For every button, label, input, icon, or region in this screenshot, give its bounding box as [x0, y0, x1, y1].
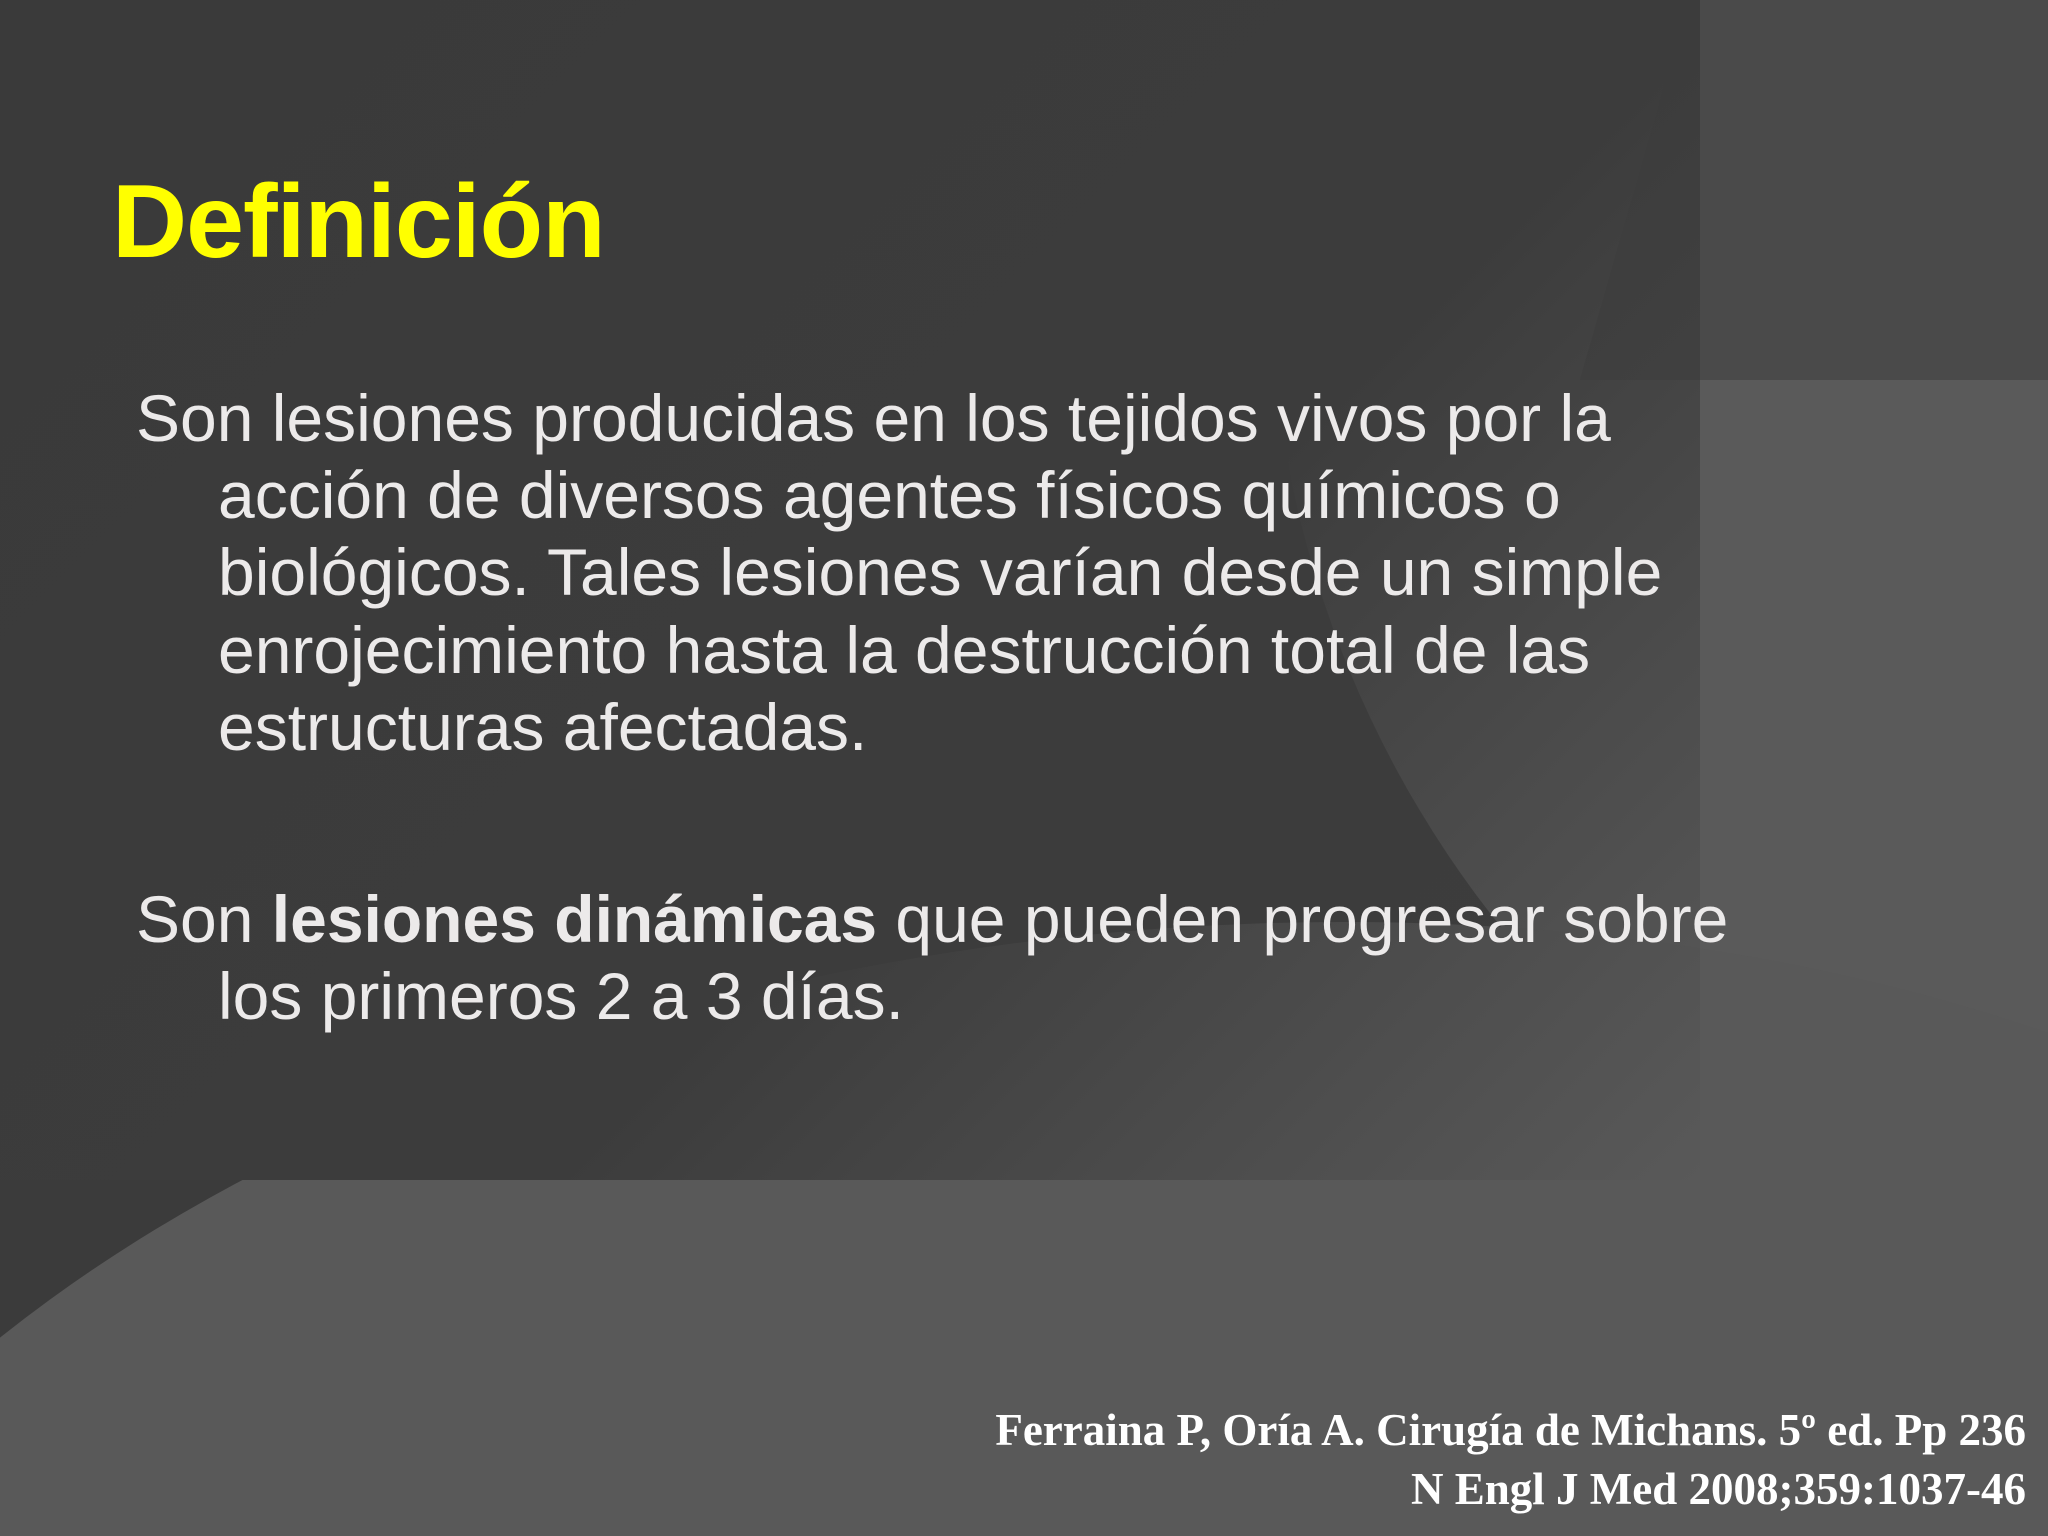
source-citation: Ferraina P, Oría A. Cirugía de Michans. … [995, 1401, 2026, 1518]
body-paragraph-2: Son lesiones dinámicas que pueden progre… [136, 881, 1818, 1035]
body-paragraph-1-text: Son lesiones producidas en los tejidos v… [136, 381, 1662, 764]
citation-line-2: N Engl J Med 2008;359:1037-46 [995, 1460, 2026, 1519]
slide-body: Son lesiones producidas en los tejidos v… [136, 380, 1836, 1036]
body-paragraph-2-prefix: Son [136, 882, 272, 956]
body-paragraph-1: Son lesiones producidas en los tejidos v… [136, 380, 1818, 766]
citation-line-1: Ferraina P, Oría A. Cirugía de Michans. … [995, 1401, 2026, 1460]
page-title: Definición [112, 168, 605, 277]
slide-content: Definición Son lesiones producidas en lo… [0, 0, 2048, 1536]
body-paragraph-2-emphasis: lesiones dinámicas [272, 882, 877, 956]
presentation-slide: Definición Son lesiones producidas en lo… [0, 0, 2048, 1536]
